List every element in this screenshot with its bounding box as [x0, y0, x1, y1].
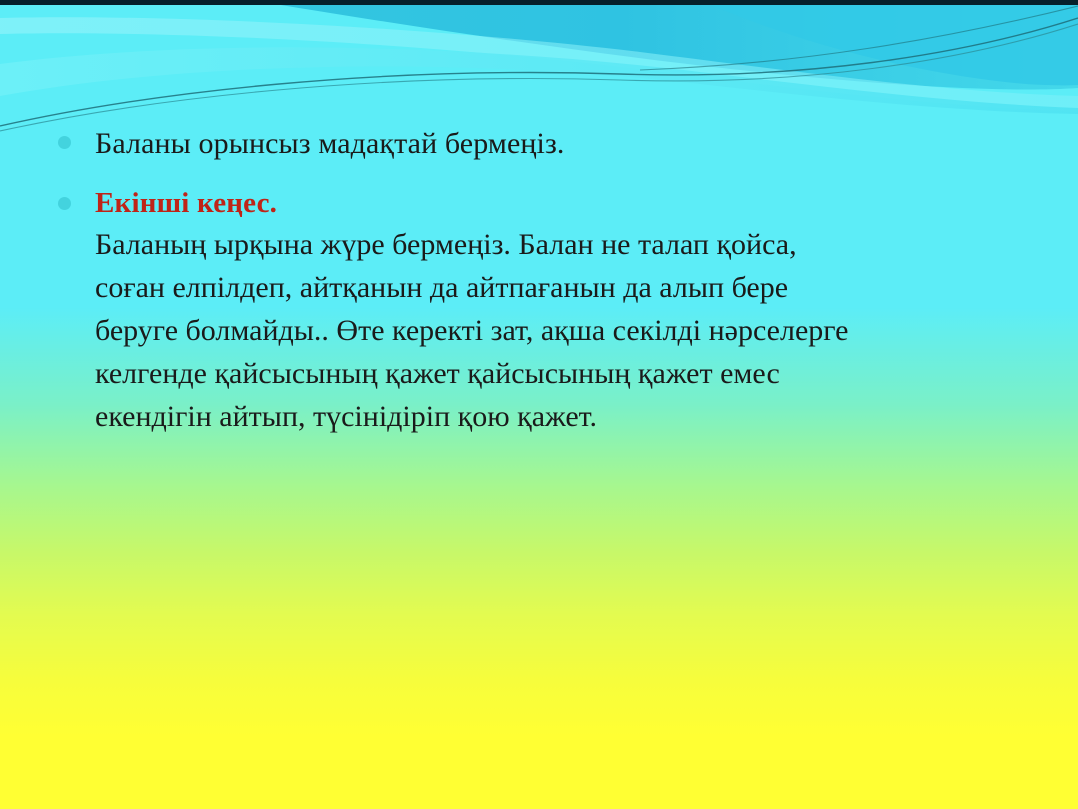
paragraph-line: Баланың ырқына жүре бермеңіз. Балан не т…	[95, 223, 1038, 266]
wave-shape-dark-2	[700, 0, 1078, 85]
list-item: Екінші кеңес. Баланың ырқына жүре бермең…	[58, 183, 1038, 438]
list-item: Баланы орынсыз мадақтай бермеңіз.	[58, 122, 1038, 165]
wave-line-3	[640, 6, 1078, 70]
wave-shape-pale	[0, 17, 1078, 112]
slide-body: Баланы орынсыз мадақтай бермеңіз. Екінші…	[58, 122, 1038, 438]
list-item-content: Екінші кеңес. Баланың ырқына жүре бермең…	[95, 183, 1038, 438]
bullet-2-paragraph: Баланың ырқына жүре бермеңіз. Балан не т…	[95, 223, 1038, 438]
presentation-slide: Баланы орынсыз мадақтай бермеңіз. Екінші…	[0, 0, 1078, 809]
bullet-dot-icon	[58, 197, 71, 210]
wave-base-fill	[0, 0, 1078, 140]
bullet-dot-icon	[58, 136, 71, 149]
wave-svg	[0, 0, 1078, 140]
top-edge-strip	[0, 0, 1078, 5]
bullet-1-text: Баланы орынсыз мадақтай бермеңіз.	[95, 122, 1038, 165]
paragraph-line: келгенде қайсысының қажет қайсысының қаж…	[95, 352, 1038, 395]
wave-line-2	[0, 24, 1078, 131]
wave-shape-dark	[250, 0, 1078, 90]
paragraph-line: беруге болмайды.. Өте керекті зат, ақша …	[95, 309, 1038, 352]
decorative-wave-graphic	[0, 0, 1078, 140]
bullet-2-heading: Екінші кеңес.	[95, 183, 1038, 223]
paragraph-line: соған елпілдеп, айтқанын да айтпағанын д…	[95, 266, 1038, 309]
paragraph-line: екендігін айтып, түсінідіріп қою қажет.	[95, 395, 1038, 438]
wave-line-1	[0, 18, 1078, 126]
list-item-content: Баланы орынсыз мадақтай бермеңіз.	[95, 122, 1038, 165]
